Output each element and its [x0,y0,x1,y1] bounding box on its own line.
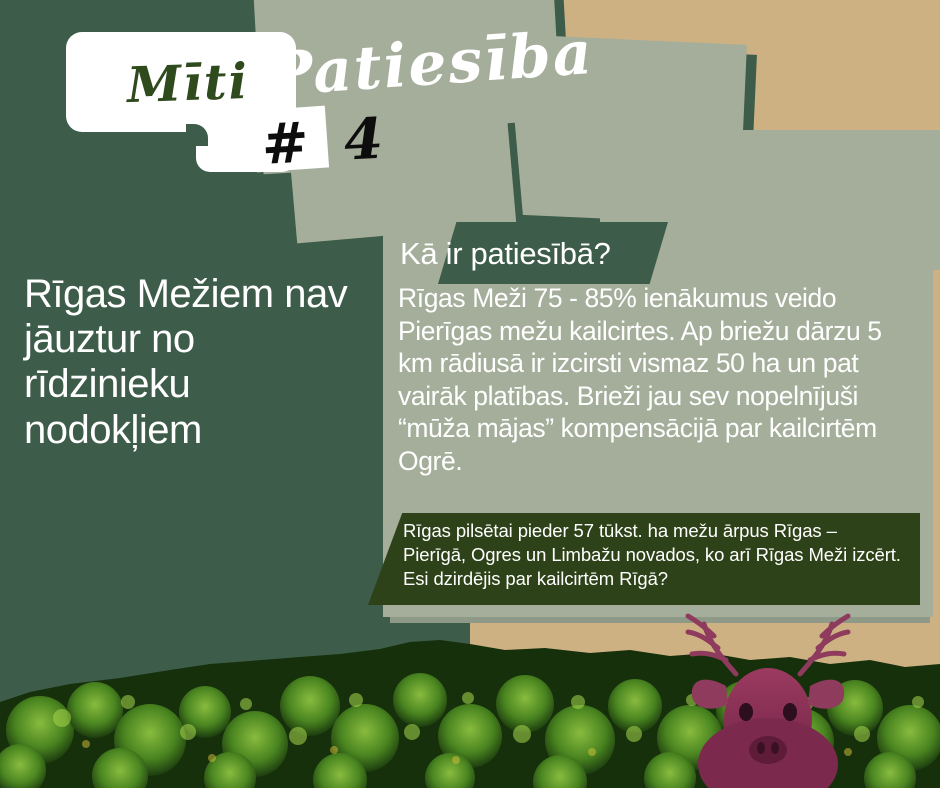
sub-heading: Kā ir patiesībā? [400,236,920,272]
page-title: Rīgas Mežiem nav jāuztur no rīdzinieku n… [24,272,354,453]
red-deer-stag-illustration [618,608,918,788]
episode-number-label: # 4 [260,104,414,192]
callout-text: Rīgas pilsētai pieder 57 tūkst. ha mežu … [403,519,903,591]
poster-canvas: Mīti Patiesība # 4 Rīgas Mežiem nav jāuz… [0,0,940,788]
body-text: Rīgas Meži 75 - 85% ienākumus veido Pier… [398,282,918,478]
